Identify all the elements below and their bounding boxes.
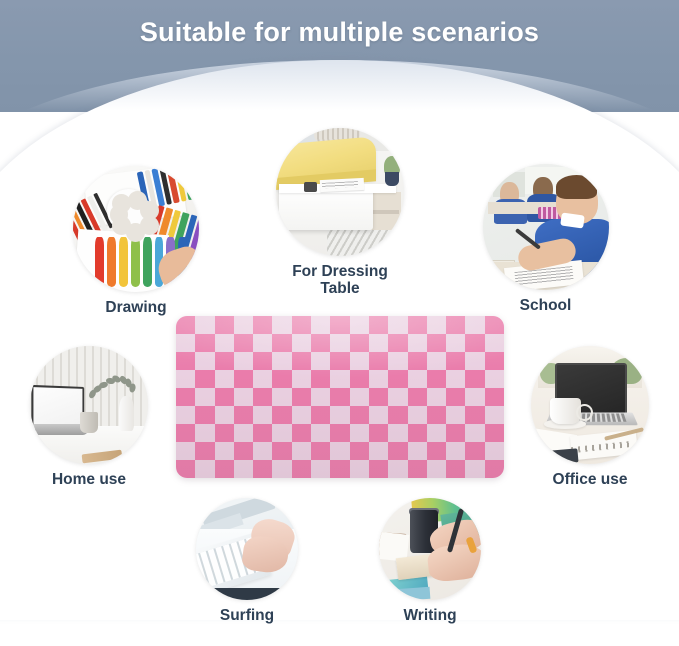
checker-cell — [465, 460, 484, 478]
checker-cell — [272, 316, 291, 334]
checker-cell — [446, 316, 465, 334]
checker-cell — [215, 370, 234, 388]
checker-cell — [408, 460, 427, 478]
checker-cell — [369, 424, 388, 442]
checker-cell — [427, 424, 446, 442]
scenario-dressing-table[interactable]: For Dressing Table — [265, 128, 415, 298]
checker-cell — [388, 370, 407, 388]
checker-cell — [369, 316, 388, 334]
checker-cell — [195, 424, 214, 442]
checker-cell — [311, 442, 330, 460]
checker-cell — [427, 370, 446, 388]
checker-cell — [215, 460, 234, 478]
checker-cell — [311, 460, 330, 478]
checker-cell — [292, 460, 311, 478]
checker-cell — [369, 388, 388, 406]
checker-cell — [195, 388, 214, 406]
checker-cell — [292, 442, 311, 460]
scenario-label-surfing: Surfing — [196, 607, 298, 624]
checker-cell — [388, 388, 407, 406]
checker-cell — [195, 406, 214, 424]
checker-cell — [485, 460, 504, 478]
checker-cell — [195, 352, 214, 370]
checker-cell — [215, 352, 234, 370]
checker-cell — [176, 316, 195, 334]
checker-cell — [369, 334, 388, 352]
home-use-photo — [30, 346, 148, 464]
checker-cell — [446, 424, 465, 442]
checker-cell — [195, 460, 214, 478]
checker-cell — [350, 334, 369, 352]
checker-cell — [465, 352, 484, 370]
scenario-label-office-use: Office use — [529, 471, 651, 488]
product-desk-mat[interactable] — [176, 316, 504, 478]
checker-cell — [427, 334, 446, 352]
checker-cell — [388, 424, 407, 442]
checker-cell — [311, 388, 330, 406]
checker-cell — [330, 406, 349, 424]
checker-cell — [176, 424, 195, 442]
scenario-school[interactable]: School — [468, 164, 623, 314]
scenario-label-drawing: Drawing — [56, 299, 216, 316]
checker-cell — [485, 406, 504, 424]
checker-cell — [427, 460, 446, 478]
checker-cell — [215, 388, 234, 406]
checker-cell — [234, 388, 253, 406]
checker-cell — [253, 388, 272, 406]
drawing-photo — [73, 166, 199, 292]
checker-cell — [292, 388, 311, 406]
checker-cell — [350, 460, 369, 478]
checker-cell — [465, 334, 484, 352]
school-photo — [483, 164, 609, 290]
checker-cell — [465, 370, 484, 388]
checker-cell — [253, 370, 272, 388]
checker-cell — [427, 388, 446, 406]
checker-cell — [369, 460, 388, 478]
checker-cell — [292, 406, 311, 424]
checker-cell — [465, 442, 484, 460]
checker-cell — [234, 406, 253, 424]
eucalyptus-branch — [87, 367, 134, 400]
checker-cell — [272, 424, 291, 442]
checker-cell — [369, 442, 388, 460]
checker-cell — [215, 334, 234, 352]
writing-photo — [379, 498, 481, 600]
checker-cell — [292, 352, 311, 370]
checker-cell — [465, 424, 484, 442]
checker-cell — [176, 388, 195, 406]
checker-cell — [234, 352, 253, 370]
checker-cell — [350, 352, 369, 370]
checker-cell — [176, 406, 195, 424]
checker-cell — [272, 334, 291, 352]
checker-cell — [330, 334, 349, 352]
checker-cell — [292, 370, 311, 388]
checker-cell — [234, 316, 253, 334]
checker-cell — [195, 334, 214, 352]
checker-cell — [292, 424, 311, 442]
checker-cell — [485, 316, 504, 334]
checker-cell — [253, 352, 272, 370]
surfing-photo — [196, 498, 298, 600]
checker-cell — [369, 352, 388, 370]
checker-cell — [408, 316, 427, 334]
scenario-surfing[interactable]: Surfing — [196, 498, 298, 624]
dressing-table-photo — [276, 128, 404, 256]
checker-cell — [272, 442, 291, 460]
checker-cell — [253, 442, 272, 460]
checker-cell — [388, 460, 407, 478]
page-title: Suitable for multiple scenarios — [0, 17, 679, 48]
checker-cell — [446, 388, 465, 406]
checker-cell — [388, 334, 407, 352]
checker-cell — [234, 442, 253, 460]
scenario-label-home-use: Home use — [28, 471, 150, 488]
checker-cell — [427, 316, 446, 334]
checker-cell — [234, 424, 253, 442]
checker-cell — [446, 370, 465, 388]
checker-cell — [272, 406, 291, 424]
checker-cell — [369, 370, 388, 388]
office-use-photo — [531, 346, 649, 464]
checker-cell — [408, 334, 427, 352]
checker-cell — [234, 370, 253, 388]
checker-cell — [446, 460, 465, 478]
checker-cell — [311, 406, 330, 424]
checker-cell — [485, 388, 504, 406]
checker-cell — [350, 388, 369, 406]
checker-cell — [272, 460, 291, 478]
checker-cell — [330, 316, 349, 334]
checker-cell — [215, 406, 234, 424]
checker-cell — [485, 370, 504, 388]
checker-cell — [485, 352, 504, 370]
scenario-drawing[interactable]: Drawing — [56, 166, 216, 316]
checker-cell — [234, 460, 253, 478]
checker-cell — [176, 442, 195, 460]
checker-cell — [350, 424, 369, 442]
checker-cell — [234, 334, 253, 352]
checker-cell — [369, 406, 388, 424]
checker-cell — [427, 352, 446, 370]
checker-cell — [427, 442, 446, 460]
checker-cell — [176, 460, 195, 478]
checker-cell — [350, 442, 369, 460]
checker-cell — [408, 370, 427, 388]
checker-cell — [176, 352, 195, 370]
checker-cell — [485, 424, 504, 442]
checker-cell — [446, 442, 465, 460]
checkerboard-grid — [176, 316, 504, 478]
checker-cell — [292, 316, 311, 334]
checker-cell — [446, 406, 465, 424]
checker-cell — [272, 370, 291, 388]
checker-cell — [311, 352, 330, 370]
checker-cell — [311, 316, 330, 334]
checker-cell — [195, 370, 214, 388]
checker-cell — [427, 406, 446, 424]
checker-cell — [176, 370, 195, 388]
scenario-home-use[interactable]: Home use — [28, 346, 150, 488]
checker-cell — [215, 316, 234, 334]
checker-cell — [311, 424, 330, 442]
checker-cell — [446, 352, 465, 370]
checker-cell — [485, 334, 504, 352]
checker-cell — [350, 406, 369, 424]
checker-cell — [350, 370, 369, 388]
checker-cell — [388, 442, 407, 460]
checker-cell — [388, 352, 407, 370]
checker-cell — [311, 334, 330, 352]
checker-cell — [330, 460, 349, 478]
scenario-infographic: Suitable for multiple scenarios — [0, 0, 679, 646]
checker-cell — [485, 442, 504, 460]
checker-cell — [195, 442, 214, 460]
checker-cell — [446, 334, 465, 352]
checker-cell — [465, 406, 484, 424]
checker-cell — [388, 316, 407, 334]
checker-cell — [408, 442, 427, 460]
checker-cell — [215, 424, 234, 442]
scenario-label-dressing-table: For Dressing Table — [265, 263, 415, 298]
scenario-label-school: School — [468, 297, 623, 314]
checker-cell — [330, 388, 349, 406]
checker-cell — [350, 316, 369, 334]
checker-cell — [388, 406, 407, 424]
scenario-writing[interactable]: Writing — [379, 498, 481, 624]
checker-cell — [330, 424, 349, 442]
checker-cell — [408, 388, 427, 406]
checker-cell — [253, 334, 272, 352]
checker-cell — [408, 352, 427, 370]
checker-cell — [465, 316, 484, 334]
checker-cell — [330, 370, 349, 388]
checker-cell — [311, 370, 330, 388]
checker-cell — [408, 406, 427, 424]
scenario-label-writing: Writing — [379, 607, 481, 624]
checker-cell — [292, 334, 311, 352]
checker-cell — [253, 424, 272, 442]
checker-cell — [253, 316, 272, 334]
checker-cell — [253, 406, 272, 424]
checker-cell — [253, 460, 272, 478]
scenario-office-use[interactable]: Office use — [529, 346, 651, 488]
checker-cell — [215, 442, 234, 460]
checker-cell — [465, 388, 484, 406]
checker-cell — [176, 334, 195, 352]
checker-cell — [330, 352, 349, 370]
checker-cell — [272, 352, 291, 370]
checker-cell — [272, 388, 291, 406]
checker-cell — [195, 316, 214, 334]
checker-cell — [330, 442, 349, 460]
checker-cell — [408, 424, 427, 442]
